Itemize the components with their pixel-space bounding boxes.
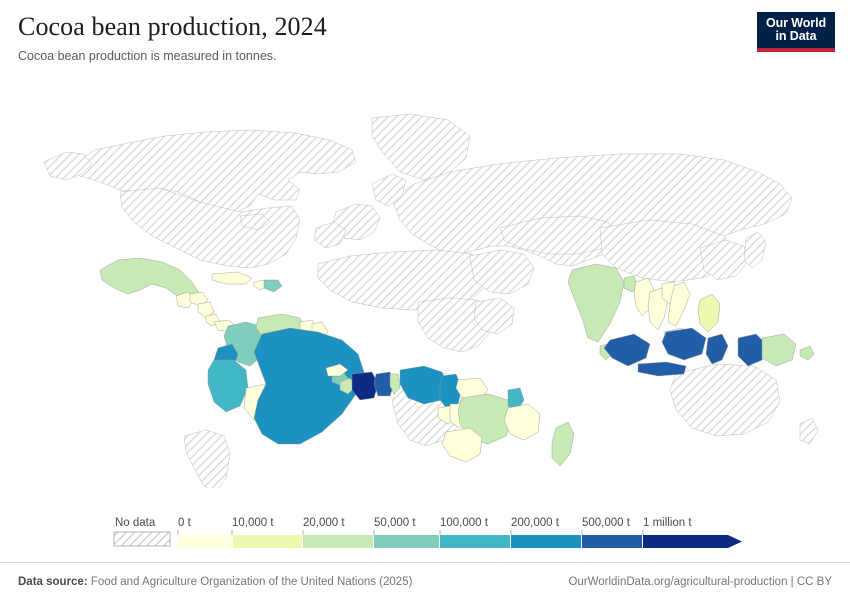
legend-tick-3: 50,000 t xyxy=(374,517,416,529)
country-new-zealand xyxy=(800,418,818,444)
page-title: Cocoa bean production, 2024 xyxy=(18,12,832,42)
country-indonesia-borneo xyxy=(662,328,706,360)
legend-tick-1: 10,000 t xyxy=(232,517,274,529)
country-india xyxy=(568,264,624,342)
logo-line-1: Our World xyxy=(766,17,826,31)
legend-tick-7: 1 million t xyxy=(643,517,692,529)
country-indonesia-sulawesi xyxy=(706,334,728,364)
chart-footer: Data source: Food and Agriculture Organi… xyxy=(0,562,850,600)
legend-bin-1[interactable] xyxy=(233,535,302,548)
legend-bin-7-open-ended[interactable] xyxy=(643,535,742,548)
country-dominican-republic xyxy=(264,280,282,292)
legend-bin-4[interactable] xyxy=(440,535,510,548)
country-cote-divoire xyxy=(352,372,378,400)
source-text: Food and Agriculture Organization of the… xyxy=(91,576,413,588)
country-japan xyxy=(744,232,766,268)
country-madagascar xyxy=(552,422,574,466)
legend-tick-6: 500,000 t xyxy=(582,517,631,529)
legend-tick-5: 200,000 t xyxy=(511,517,560,529)
country-indonesia-java xyxy=(638,362,686,376)
legend-svg[interactable]: No data 0 t 10,000 t 20,000 t 50,000 t 1… xyxy=(0,505,850,555)
map-legend[interactable]: No data 0 t 10,000 t 20,000 t 50,000 t 1… xyxy=(0,505,850,555)
chart-header: Cocoa bean production, 2024 Cocoa bean p… xyxy=(18,12,832,65)
country-australia xyxy=(670,364,780,436)
source-label: Data source: xyxy=(18,576,88,588)
country-tanzania xyxy=(504,404,540,440)
legend-no-data-label: No data xyxy=(115,517,156,529)
country-argentina-chile xyxy=(184,430,230,488)
country-cuba xyxy=(212,272,252,284)
country-greenland xyxy=(372,114,470,180)
world-choropleth-map[interactable] xyxy=(0,88,850,488)
map-svg[interactable] xyxy=(0,88,850,488)
logo-line-2: in Data xyxy=(776,30,817,44)
legend-color-bins[interactable] xyxy=(178,535,742,548)
legend-bin-6[interactable] xyxy=(582,535,642,548)
legend-tick-marks xyxy=(178,530,643,535)
country-indonesia-sumatra xyxy=(604,334,650,366)
country-angola xyxy=(442,428,482,462)
country-peru xyxy=(208,360,248,412)
legend-bin-0[interactable] xyxy=(178,535,232,548)
legend-tick-2: 20,000 t xyxy=(303,517,345,529)
legend-tick-0: 0 t xyxy=(178,517,192,529)
footer-link[interactable]: OurWorldinData.org/agricultural-producti… xyxy=(568,576,832,588)
footer-source: Data source: Food and Agriculture Organi… xyxy=(18,576,412,588)
country-solomon-islands xyxy=(800,346,814,360)
legend-tick-4: 100,000 t xyxy=(440,517,489,529)
legend-bin-3[interactable] xyxy=(374,535,439,548)
owid-logo[interactable]: Our World in Data xyxy=(757,12,835,52)
legend-bin-5[interactable] xyxy=(511,535,581,548)
country-papua-new-guinea xyxy=(762,334,796,366)
country-canada xyxy=(70,130,356,212)
legend-no-data-swatch[interactable] xyxy=(114,532,170,546)
chart-subtitle: Cocoa bean production is measured in ton… xyxy=(18,49,832,65)
country-philippines xyxy=(698,294,720,332)
legend-bin-2[interactable] xyxy=(303,535,373,548)
